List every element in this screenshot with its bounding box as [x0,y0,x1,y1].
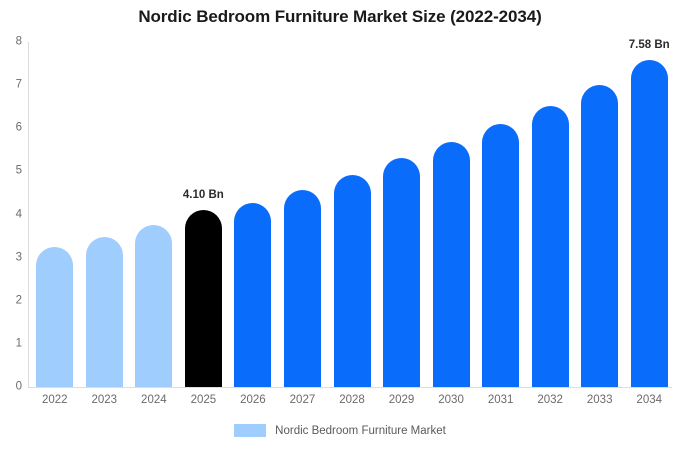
x-tick-label: 2023 [92,394,118,406]
x-tick-label: 2034 [636,394,662,406]
x-tick-label: 2026 [240,394,266,406]
bar-2023[interactable] [86,237,123,387]
x-tick-label: 2033 [587,394,613,406]
bar-value-label-2025: 4.10 Bn [183,189,224,201]
x-tick-label: 2028 [339,394,365,406]
y-tick-label: 2 [4,295,22,307]
legend-label: Nordic Bedroom Furniture Market [275,425,446,437]
y-tick-label: 1 [4,338,22,350]
y-tick-label: 3 [4,252,22,264]
y-tick-label: 8 [4,36,22,48]
y-tick-label: 5 [4,166,22,178]
x-tick-label: 2024 [141,394,167,406]
bar-2030[interactable] [433,142,470,387]
y-axis-line [28,42,29,387]
bar-2031[interactable] [482,124,519,387]
legend-swatch-icon [234,424,266,437]
x-axis-line [28,387,672,388]
bar-2034[interactable] [631,60,668,387]
bar-2022[interactable] [36,247,73,387]
y-tick-label: 6 [4,123,22,135]
bar-2032[interactable] [532,106,569,387]
x-tick-label: 2029 [389,394,415,406]
y-tick-label: 0 [4,381,22,393]
x-tick-label: 2032 [537,394,563,406]
x-tick-label: 2030 [438,394,464,406]
plot-area: 012345678 202220232024202520262027202820… [28,42,672,387]
bar-2026[interactable] [234,203,271,387]
x-tick-label: 2022 [42,394,68,406]
bar-2027[interactable] [284,190,321,388]
y-tick-label: 7 [4,79,22,91]
bar-2025[interactable] [185,210,222,387]
x-tick-label: 2031 [488,394,514,406]
x-tick-label: 2027 [290,394,316,406]
bar-chart: Nordic Bedroom Furniture Market Size (20… [0,0,680,450]
y-tick-label: 4 [4,209,22,221]
bar-2028[interactable] [334,175,371,387]
bar-2024[interactable] [135,225,172,387]
chart-legend: Nordic Bedroom Furniture Market [0,424,680,437]
bar-2033[interactable] [581,85,618,387]
bar-value-label-2034: 7.58 Bn [629,39,670,51]
bar-2029[interactable] [383,158,420,387]
chart-title: Nordic Bedroom Furniture Market Size (20… [0,7,680,27]
x-tick-label: 2025 [191,394,217,406]
